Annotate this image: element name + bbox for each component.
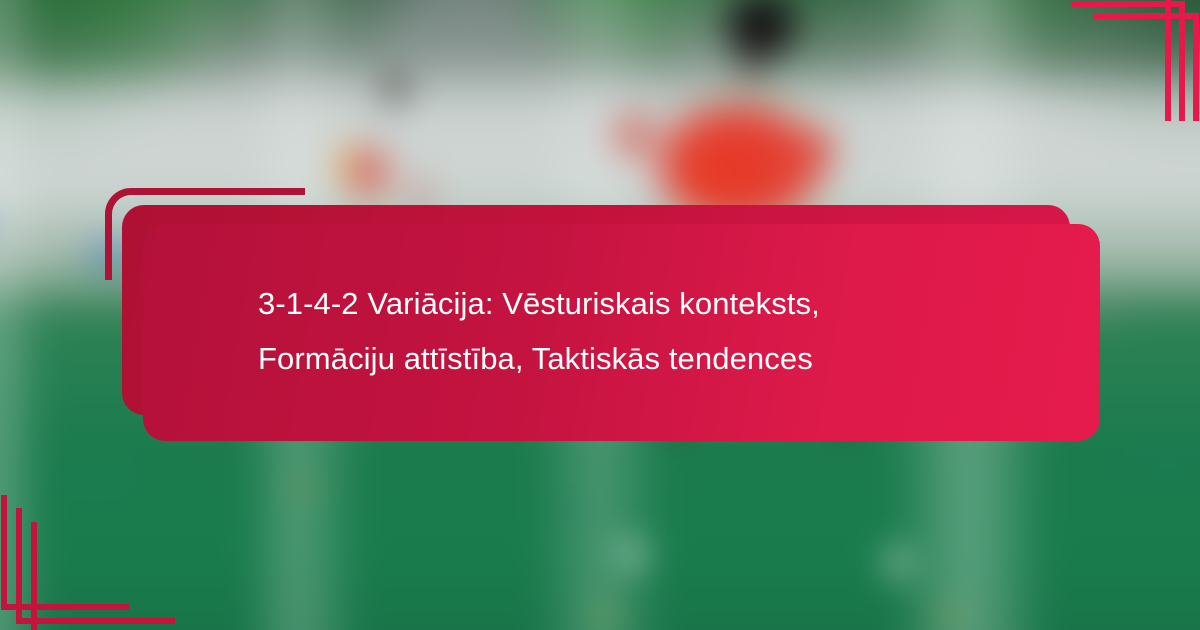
social-card-canvas: 3-1-4-2 Variācija: Vēsturiskais kontekst… [0,0,1200,630]
corner-bracket-top-right-icon [1000,0,1200,122]
page-title-line-2: Formāciju attīstība, Taktiskās tendences [258,331,1048,386]
page-title: 3-1-4-2 Variācija: Vēsturiskais kontekst… [258,276,1048,386]
corner-bracket-bottom-left-icon [0,495,200,630]
page-title-line-1: 3-1-4-2 Variācija: Vēsturiskais kontekst… [258,276,1048,331]
